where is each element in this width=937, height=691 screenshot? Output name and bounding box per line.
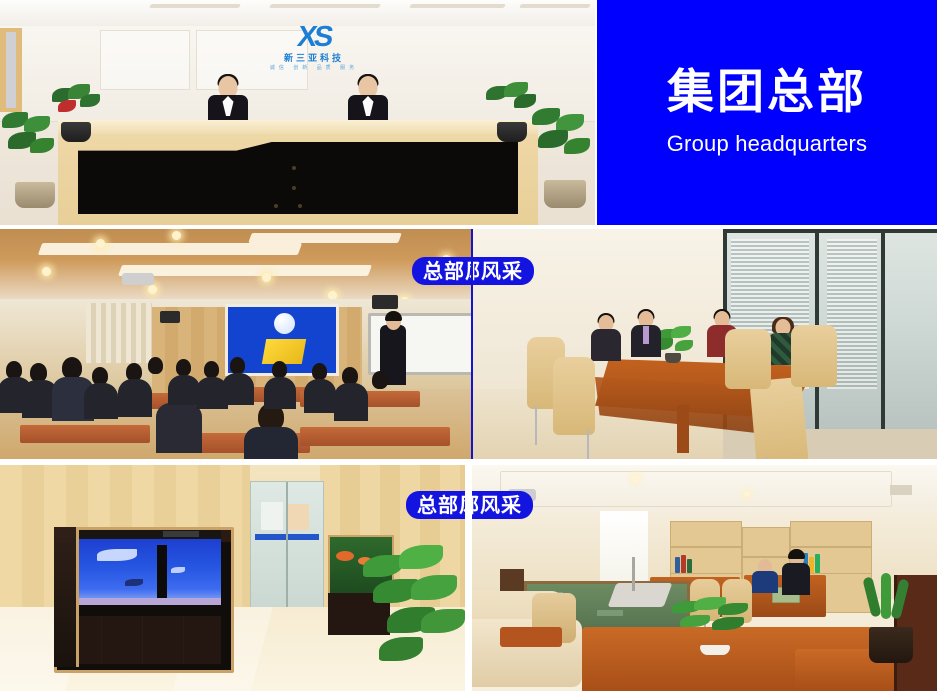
lobby-scene (0, 465, 465, 691)
meeting-chair-2 (553, 357, 595, 435)
reception-desk-front (78, 142, 518, 214)
meeting-chair-4 (725, 329, 771, 389)
training-scene (0, 229, 471, 459)
corporate-logo: XS 新三亚科技 诚信 创新 品质 服务 (258, 22, 370, 82)
badge-office: 总部风采 (472, 491, 533, 519)
meeting-chair-3 (749, 377, 808, 459)
meeting-person-2 (625, 311, 667, 371)
plant-far-right (530, 108, 595, 208)
receptionist-right (348, 76, 388, 122)
reception-scene: XS 新三亚科技 诚信 创新 品质 服务 (0, 0, 595, 225)
office-staff-1-body (752, 571, 778, 593)
presenter-hair (385, 311, 402, 321)
receptionist-left (208, 76, 248, 122)
aquarium-cabinet (61, 616, 221, 664)
meeting-scene (473, 229, 937, 459)
office-potted-plant (857, 577, 923, 663)
photo-reception[interactable]: XS 新三亚科技 诚信 创新 品质 服务 (0, 0, 595, 225)
badge-lobby: 总部风采 (406, 491, 465, 519)
headquarters-subtitle-en: Group headquarters (667, 131, 868, 157)
office-staff-2-body (782, 563, 810, 595)
office-scene (472, 465, 937, 691)
photo-executive-office[interactable]: 总部风采 (472, 465, 937, 691)
plant-far-left (0, 112, 70, 208)
lobby-glass-doors (250, 481, 324, 609)
headquarters-title-panel: 集团总部 Group headquarters (597, 0, 937, 225)
logo-tagline: 诚信 创新 品质 服务 (258, 64, 370, 72)
aquarium-main (54, 527, 234, 673)
aquarium-water (61, 539, 221, 603)
logo-mark: XS (256, 22, 372, 52)
wall-speaker-right (372, 295, 398, 309)
company-profile-collage: XS 新三亚科技 诚信 创新 品质 服务 (0, 0, 937, 691)
reception-desk-top (58, 120, 538, 134)
aquarium-gravel (61, 598, 221, 605)
lobby-plant (359, 545, 465, 685)
photo-training-room[interactable]: 总部风采 (0, 229, 471, 459)
office-side-table (500, 627, 562, 647)
bookshelf-left (670, 521, 742, 575)
office-table-plant (672, 597, 760, 655)
headquarters-title-cn: 集团总部 (667, 68, 867, 117)
meeting-chair-5 (791, 325, 837, 387)
photo-meeting-room[interactable]: 总部风采 (473, 229, 937, 459)
training-audience (0, 347, 471, 459)
photo-lobby-aquarium[interactable]: 总部风采 (0, 465, 465, 691)
wall-speaker-left (160, 311, 180, 323)
badge-training: 总部风采 (412, 257, 471, 285)
office-equipment (608, 583, 673, 607)
badge-meeting: 总部风采 (473, 257, 534, 285)
logo-company-name: 新三亚科技 (258, 52, 370, 64)
training-ceiling (0, 229, 471, 307)
